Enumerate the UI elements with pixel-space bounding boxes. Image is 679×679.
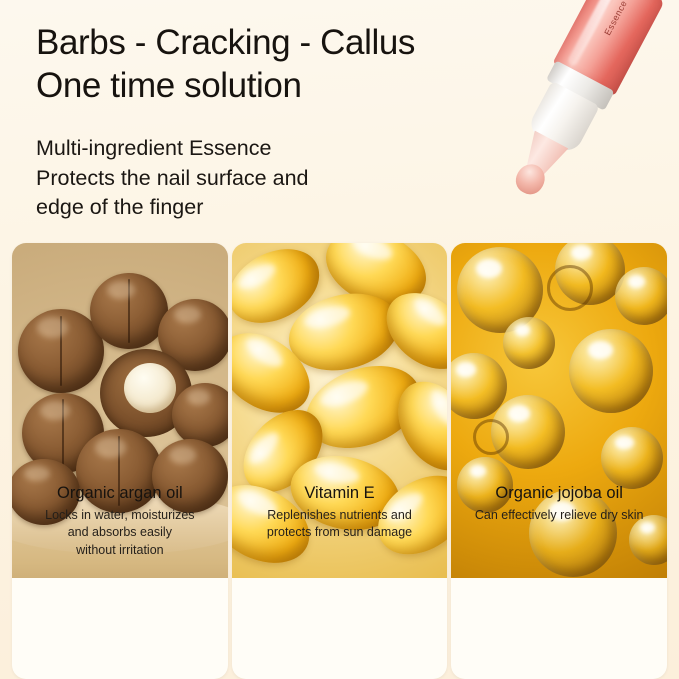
oil-bubble bbox=[569, 329, 653, 413]
headline-line-1: Barbs - Cracking - Callus bbox=[36, 23, 415, 62]
oil-bubbles-photo: Organic jojoba oil Can effectively relie… bbox=[451, 243, 667, 578]
macadamia-nuts-photo: Organic argan oil Locks in water, moistu… bbox=[12, 243, 228, 578]
ingredient-card-vitamin-e: Vitamin E Replenishes nutrients and prot… bbox=[232, 243, 448, 679]
desc-line-2: protects from sun damage bbox=[238, 524, 442, 542]
desc-line-1: Replenishes nutrients and bbox=[238, 507, 442, 525]
desc-line-3: without irritation bbox=[18, 542, 222, 560]
card-caption: Organic jojoba oil Can effectively relie… bbox=[451, 477, 667, 578]
ingredient-description: Replenishes nutrients and protects from … bbox=[238, 507, 442, 543]
card-caption: Vitamin E Replenishes nutrients and prot… bbox=[232, 477, 448, 578]
desc-line-2: and absorbs easily bbox=[18, 524, 222, 542]
nail-essence-pen-image: Essence bbox=[385, 0, 679, 244]
subheadline-line-2: Protects the nail surface and bbox=[36, 164, 416, 194]
ingredient-card-jojoba-oil: Organic jojoba oil Can effectively relie… bbox=[451, 243, 667, 679]
desc-line-1: Can effectively relieve dry skin bbox=[457, 507, 661, 525]
product-poster: Barbs - Cracking - Callus One time solut… bbox=[0, 0, 679, 679]
subheadline-line-1: Multi-ingredient Essence bbox=[36, 134, 416, 164]
ingredient-title: Organic jojoba oil bbox=[457, 483, 661, 504]
card-caption: Organic argan oil Locks in water, moistu… bbox=[12, 477, 228, 578]
poster-header: Barbs - Cracking - Callus One time solut… bbox=[0, 0, 679, 236]
subheadline: Multi-ingredient Essence Protects the na… bbox=[36, 134, 416, 223]
oil-bubble bbox=[615, 267, 667, 325]
nut bbox=[90, 273, 168, 349]
ingredient-title: Vitamin E bbox=[238, 483, 442, 504]
nut-kernel bbox=[124, 363, 176, 413]
ingredient-description: Locks in water, moisturizes and absorbs … bbox=[18, 507, 222, 560]
desc-line-1: Locks in water, moisturizes bbox=[18, 507, 222, 525]
ingredient-description: Can effectively relieve dry skin bbox=[457, 507, 661, 525]
ingredient-card-list: Organic argan oil Locks in water, moistu… bbox=[0, 243, 679, 679]
nut bbox=[172, 383, 228, 447]
ingredient-card-argan-oil: Organic argan oil Locks in water, moistu… bbox=[12, 243, 228, 679]
oil-bubble bbox=[503, 317, 555, 369]
ingredient-title: Organic argan oil bbox=[18, 483, 222, 504]
softgel-capsules-photo: Vitamin E Replenishes nutrients and prot… bbox=[232, 243, 448, 578]
pen-illustration: Essence bbox=[507, 0, 665, 181]
subheadline-line-3: edge of the finger bbox=[36, 193, 416, 223]
